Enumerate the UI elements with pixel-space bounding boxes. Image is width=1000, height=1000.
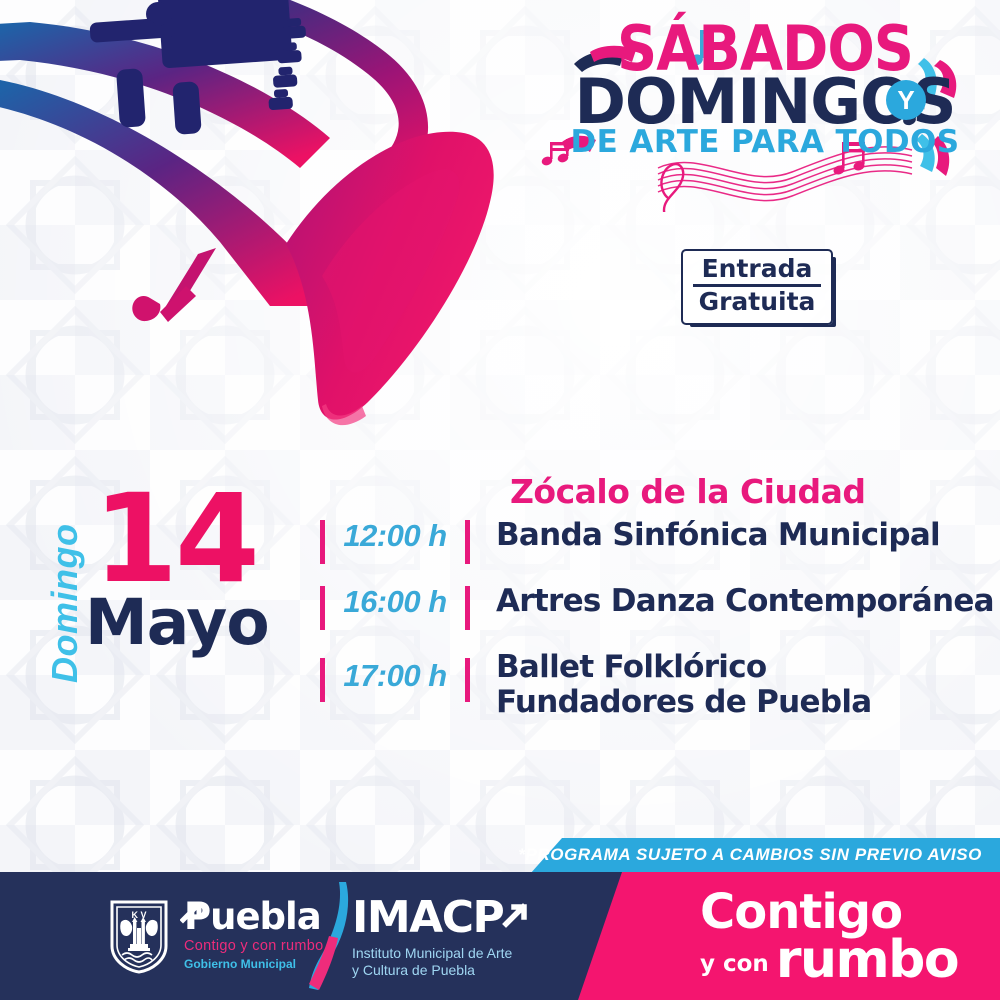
schedule-act: Banda Sinfónica Municipal [496,518,940,553]
slogan-line1: Contigo [700,890,970,936]
trumpet-illustration [0,0,510,446]
schedule-act: Artres Danza Contemporánea [496,584,994,619]
event-date-block: 14 Mayo [85,488,265,652]
row-right-bar [465,586,470,630]
program-notice-text: *PROGRAMA SUJETO A CAMBIOS SIN PREVIO AV… [518,845,982,865]
poster-canvas: SÁBADOS DOMINGOS DE ARTE PARA TODOS Y En… [0,0,1000,1000]
contigo-slogan-block: Contigo y con rumbo [700,890,970,985]
headline-line3: DE ARTE PARA TODOS [540,129,990,156]
event-venue: Zócalo de la Ciudad [510,472,866,511]
schedule-row: 17:00 h Ballet Folklórico Fundadores de … [320,650,1000,728]
imacp-logo-subtitle: Instituto Municipal de Arte y Cultura de… [352,945,572,979]
slogan-small: y con [700,951,769,985]
schedule-time: 12:00 h [325,518,465,554]
program-notice-bar: *PROGRAMA SUJETO A CAMBIOS SIN PREVIO AV… [0,838,1000,874]
schedule-act: Ballet Folklórico Fundadores de Puebla [496,650,871,719]
schedule-time: 17:00 h [325,658,465,694]
slogan-line2: rumbo [776,936,958,985]
schedule-list: 12:00 h Banda Sinfónica Municipal 16:00 … [320,518,1000,736]
event-day-number: 14 [85,488,265,590]
event-month: Mayo [85,594,265,652]
free-admission-badge: Entrada Gratuita [681,249,833,325]
puebla-arrow-icon [180,900,206,926]
schedule-time: 16:00 h [325,584,465,620]
imacp-arrow-icon [502,900,532,930]
admission-line1: Entrada [693,256,821,287]
svg-text:K V: K V [131,910,146,920]
conjunction-y-badge: Y [886,80,926,120]
imacp-logo-name: IMACP [352,896,572,940]
row-right-bar [465,520,470,564]
event-weekday-label: Domingo [44,524,86,683]
logo-divider-swoosh-icon [305,880,351,992]
schedule-row: 16:00 h Artres Danza Contemporánea [320,584,1000,642]
imacp-logo-lockup: IMACP Instituto Municipal de Arte y Cult… [352,896,572,979]
puebla-coat-of-arms-icon: K V [108,898,170,974]
row-right-bar [465,658,470,702]
admission-line2: Gratuita [693,287,821,315]
poster-headline-block: SÁBADOS DOMINGOS DE ARTE PARA TODOS Y [540,22,990,212]
schedule-row: 12:00 h Banda Sinfónica Municipal [320,518,1000,576]
